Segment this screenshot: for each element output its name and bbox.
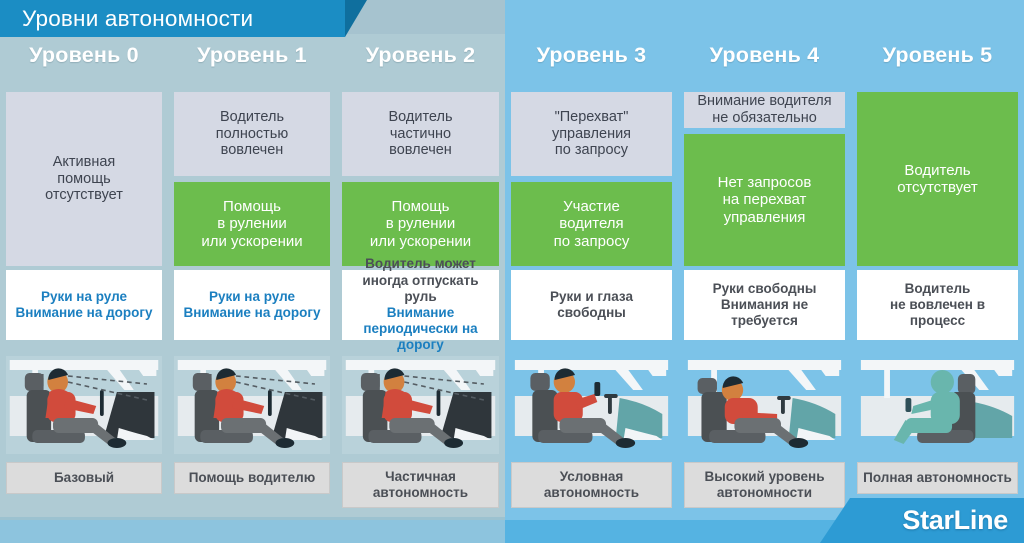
status-card-text: Помощьв руленииили ускорении xyxy=(370,198,471,250)
status-card-stack-level-4: Внимание водителяне обязательноНет запро… xyxy=(684,92,845,266)
level-name-label-0: Базовый xyxy=(6,462,162,494)
level-name-line: автономность xyxy=(373,485,468,501)
status-card-green-level-1: Помощьв руленииили ускорении xyxy=(174,182,330,266)
column-body-level-2: ВодительчастичнововлеченПомощьв рулениии… xyxy=(342,92,499,348)
illustration-driver-hands-on-wheel-level-1 xyxy=(174,356,330,454)
level-name-line: Помощь водителю xyxy=(189,470,316,486)
status-card-text: Активнаяпомощьотсутствует xyxy=(45,154,123,204)
status-card-text: Участиеводителяпо запросу xyxy=(554,198,630,250)
status-card-line: по запросу xyxy=(552,142,631,159)
status-card-text: Помощьв руленииили ускорении xyxy=(201,198,302,250)
status-card-stack-level-0: Активнаяпомощьотсутствует xyxy=(6,92,162,266)
level-name-line: Частичная xyxy=(373,469,468,485)
column-level-4: Уровень 4Внимание водителяне обязательно… xyxy=(678,0,851,543)
status-card-text: Нет запросовна перехватуправления xyxy=(718,174,812,226)
status-card-line: или ускорении xyxy=(370,233,471,250)
status-card-line: Помощь xyxy=(370,198,471,215)
status-card-line: Участие xyxy=(554,198,630,215)
column-body-level-0: АктивнаяпомощьотсутствуетРуки на рулеВни… xyxy=(6,92,162,348)
status-card-green-level-2: Помощьв руленииили ускорении xyxy=(342,182,499,266)
level-name-label-3: Условнаяавтономность xyxy=(511,462,672,508)
level-name-line: автономность xyxy=(544,485,639,501)
driver-requirement-note-level-5: Водительне вовлечен в процесс xyxy=(857,270,1018,340)
note-text: Водительне вовлечен в процесс xyxy=(861,281,1014,330)
level-name-text: Полная автономность xyxy=(863,470,1012,486)
level-name-text: Частичнаяавтономность xyxy=(373,469,468,501)
level-name-text: Базовый xyxy=(54,470,114,486)
column-body-level-4: Внимание водителяне обязательноНет запро… xyxy=(684,92,845,348)
status-card-line: помощь xyxy=(45,171,123,188)
status-card-line: Водитель xyxy=(897,162,977,179)
status-card-line: Водитель xyxy=(216,109,288,126)
status-card-line: в рулении xyxy=(201,215,302,232)
note-text: Руки на рулеВнимание на дорогу xyxy=(183,289,320,321)
status-card-text: Водительполностьювовлечен xyxy=(216,109,288,159)
status-card-text: Внимание водителяне обязательно xyxy=(697,93,831,127)
title-ribbon: Уровни автономности xyxy=(0,0,345,37)
level-name-line: Условная xyxy=(544,469,639,485)
note-line: Внимания не требуется xyxy=(688,297,841,329)
status-card-text: Водительотсутствует xyxy=(897,162,977,197)
note-line: Внимание xyxy=(346,305,495,321)
illustration-driver-reclined-level-4 xyxy=(684,356,845,454)
driver-requirement-note-level-0: Руки на рулеВнимание на дорогу xyxy=(6,270,162,340)
status-card-line: водителя xyxy=(554,215,630,232)
status-card-line: Внимание водителя xyxy=(697,93,831,110)
note-line: Внимание на дорогу xyxy=(183,305,320,321)
status-card-line: отсутствует xyxy=(45,187,123,204)
level-name-label-2: Частичнаяавтономность xyxy=(342,462,499,508)
note-line: свободны xyxy=(550,305,633,321)
column-heading-level-3: Уровень 3 xyxy=(505,38,678,72)
status-card-line: управления xyxy=(718,209,812,226)
status-card-text: "Перехват"управленияпо запросу xyxy=(552,109,631,159)
column-heading-level-4: Уровень 4 xyxy=(678,38,851,72)
status-card-line: по запросу xyxy=(554,233,630,250)
level-name-text: Помощь водителю xyxy=(189,470,316,486)
level-name-line: Полная автономность xyxy=(863,470,1012,486)
driver-requirement-note-level-3: Руки и глазасвободны xyxy=(511,270,672,340)
status-card-line: "Перехват" xyxy=(552,109,631,126)
note-line: периодически на дорогу xyxy=(346,321,495,353)
infographic-root: Уровни автономности Уровень 0Активнаяпом… xyxy=(0,0,1024,543)
status-card-line: вовлечен xyxy=(216,142,288,159)
status-card-line: на перехват xyxy=(718,191,812,208)
status-card-line: Активная xyxy=(45,154,123,171)
note-line: Руки свободны xyxy=(688,281,841,297)
illustration-driver-hands-on-wheel-level-2 xyxy=(342,356,499,454)
illustration-driver-hands-on-wheel-level-0 xyxy=(6,356,162,454)
note-text: Руки свободныВнимания не требуется xyxy=(688,281,841,330)
driver-requirement-note-level-1: Руки на рулеВнимание на дорогу xyxy=(174,270,330,340)
column-heading-level-2: Уровень 2 xyxy=(336,38,505,72)
page-title: Уровни автономности xyxy=(22,6,253,32)
level-name-text: Высокий уровеньавтономности xyxy=(704,469,824,501)
status-card-text: Водительчастичнововлечен xyxy=(388,109,452,159)
status-card-line: в рулении xyxy=(370,215,471,232)
status-card-line: Помощь xyxy=(201,198,302,215)
note-line: Руки и глаза xyxy=(550,289,633,305)
column-heading-level-1: Уровень 1 xyxy=(168,38,336,72)
note-line: Внимание на дорогу xyxy=(15,305,152,321)
note-line: Водитель xyxy=(861,281,1014,297)
status-card-line: вовлечен xyxy=(388,142,452,159)
level-name-text: Условнаяавтономность xyxy=(544,469,639,501)
level-name-line: Высокий уровень xyxy=(704,469,824,485)
status-card-green-level-3: Участиеводителяпо запросу xyxy=(511,182,672,266)
status-card-stack-level-5: Водительотсутствует xyxy=(857,92,1018,266)
status-card-grey-level-1: Водительполностьювовлечен xyxy=(174,92,330,176)
note-line: не вовлечен в процесс xyxy=(861,297,1014,329)
column-body-level-1: ВодительполностьювовлеченПомощьв рулении… xyxy=(174,92,330,348)
column-heading-level-0: Уровень 0 xyxy=(0,38,168,72)
note-line: Руки на руле xyxy=(183,289,320,305)
status-card-grey-level-3: "Перехват"управленияпо запросу xyxy=(511,92,672,176)
status-card-line: полностью xyxy=(216,126,288,143)
note-line: Руки на руле xyxy=(15,289,152,305)
column-heading-level-5: Уровень 5 xyxy=(851,38,1024,72)
column-level-1: Уровень 1ВодительполностьювовлеченПомощь… xyxy=(168,0,336,543)
status-card-line: Водитель xyxy=(388,109,452,126)
driver-requirement-note-level-4: Руки свободныВнимания не требуется xyxy=(684,270,845,340)
note-line: Водитель может xyxy=(346,256,495,272)
note-text: Водитель можетиногда отпускать рульВнима… xyxy=(346,256,495,353)
status-card-line: не обязательно xyxy=(697,110,831,127)
column-body-level-5: ВодительотсутствуетВодительне вовлечен в… xyxy=(857,92,1018,348)
status-card-grey-level-4: Внимание водителяне обязательно xyxy=(684,92,845,128)
status-card-line: частично xyxy=(388,126,452,143)
level-name-label-1: Помощь водителю xyxy=(174,462,330,494)
column-level-3: Уровень 3"Перехват"управленияпо запросуУ… xyxy=(505,0,678,543)
status-card-grey-level-2: Водительчастичнововлечен xyxy=(342,92,499,176)
level-name-label-5: Полная автономность xyxy=(857,462,1018,494)
status-card-line: Нет запросов xyxy=(718,174,812,191)
driver-requirement-note-level-2: Водитель можетиногда отпускать рульВнима… xyxy=(342,270,499,340)
brand-name: StarLine xyxy=(902,505,1008,536)
note-line: иногда отпускать руль xyxy=(346,273,495,305)
status-card-green-level-5: Водительотсутствует xyxy=(857,92,1018,266)
status-card-line: отсутствует xyxy=(897,179,977,196)
column-level-5: Уровень 5ВодительотсутствуетВодительне в… xyxy=(851,0,1024,543)
title-ribbon-tail-icon xyxy=(345,0,367,37)
illustration-driver-with-phone-level-3 xyxy=(511,356,672,454)
status-card-stack-level-3: "Перехват"управленияпо запросуУчастиевод… xyxy=(511,92,672,266)
column-body-level-3: "Перехват"управленияпо запросуУчастиевод… xyxy=(511,92,672,348)
column-level-0: Уровень 0АктивнаяпомощьотсутствуетРуки н… xyxy=(0,0,168,543)
status-card-stack-level-1: ВодительполностьювовлеченПомощьв рулении… xyxy=(174,92,330,266)
level-name-line: Базовый xyxy=(54,470,114,486)
note-text: Руки на рулеВнимание на дорогу xyxy=(15,289,152,321)
status-card-line: или ускорении xyxy=(201,233,302,250)
status-card-green-level-4: Нет запросовна перехватуправления xyxy=(684,134,845,266)
column-level-2: Уровень 2ВодительчастичнововлеченПомощьв… xyxy=(336,0,505,543)
note-text: Руки и глазасвободны xyxy=(550,289,633,321)
status-card-stack-level-2: ВодительчастичнововлеченПомощьв рулениии… xyxy=(342,92,499,266)
level-name-line: автономности xyxy=(704,485,824,501)
illustration-passenger-rear-facing-level-5 xyxy=(857,356,1018,454)
status-card-line: управления xyxy=(552,126,631,143)
status-card-grey-level-0: Активнаяпомощьотсутствует xyxy=(6,92,162,266)
